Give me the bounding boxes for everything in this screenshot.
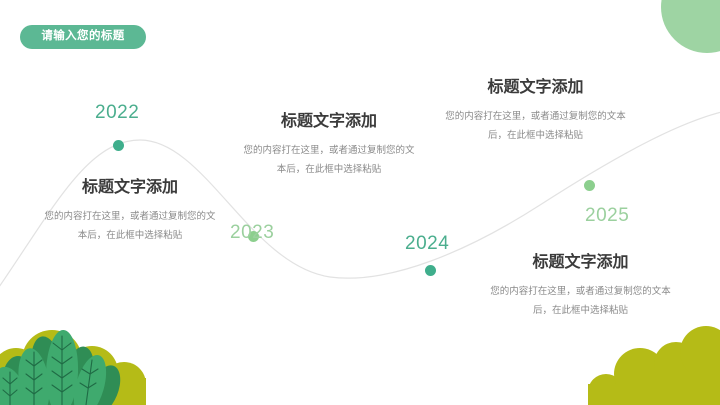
milestone-body: 您的内容打在这里，或者通过复制您的文本后，在此框中选择粘贴 <box>239 141 419 179</box>
milestone-heading: 标题文字添加 <box>488 253 673 272</box>
timeline-dot-2025[interactable] <box>584 180 595 191</box>
year-label-2025: 2025 <box>585 206 629 225</box>
year-label-2023: 2023 <box>230 223 274 242</box>
timeline-dot-2022[interactable] <box>113 140 124 151</box>
milestone-body: 您的内容打在这里，或者通过复制您的文本后，在此框中选择粘贴 <box>40 207 220 245</box>
milestone-block-2023[interactable]: 标题文字添加 您的内容打在这里，或者通过复制您的文本后，在此框中选择粘贴 <box>239 112 419 179</box>
milestone-heading: 标题文字添加 <box>443 78 628 97</box>
milestone-block-2022[interactable]: 标题文字添加 您的内容打在这里，或者通过复制您的文本后，在此框中选择粘贴 <box>40 178 220 245</box>
year-label-2024: 2024 <box>405 234 449 253</box>
milestone-heading: 标题文字添加 <box>40 178 220 197</box>
milestone-block-2024[interactable]: 标题文字添加 您的内容打在这里，或者通过复制您的文本后，在此框中选择粘贴 <box>488 253 673 320</box>
milestone-block-2025[interactable]: 标题文字添加 您的内容打在这里，或者通过复制您的文本后，在此框中选择粘贴 <box>443 78 628 145</box>
slide-title-text: 请输入您的标题 <box>41 31 124 43</box>
milestone-body: 您的内容打在这里，或者通过复制您的文本后，在此框中选择粘贴 <box>443 107 628 145</box>
milestone-body: 您的内容打在这里，或者通过复制您的文本后，在此框中选择粘贴 <box>488 282 673 320</box>
slide-title-pill[interactable]: 请输入您的标题 <box>20 25 146 49</box>
year-label-2022: 2022 <box>95 103 139 122</box>
milestone-heading: 标题文字添加 <box>239 112 419 131</box>
timeline-dot-2024[interactable] <box>425 265 436 276</box>
slide-canvas: 2022 2023 2024 2025 请输入您的标题 标题文字添加 您的内容打… <box>0 0 720 405</box>
